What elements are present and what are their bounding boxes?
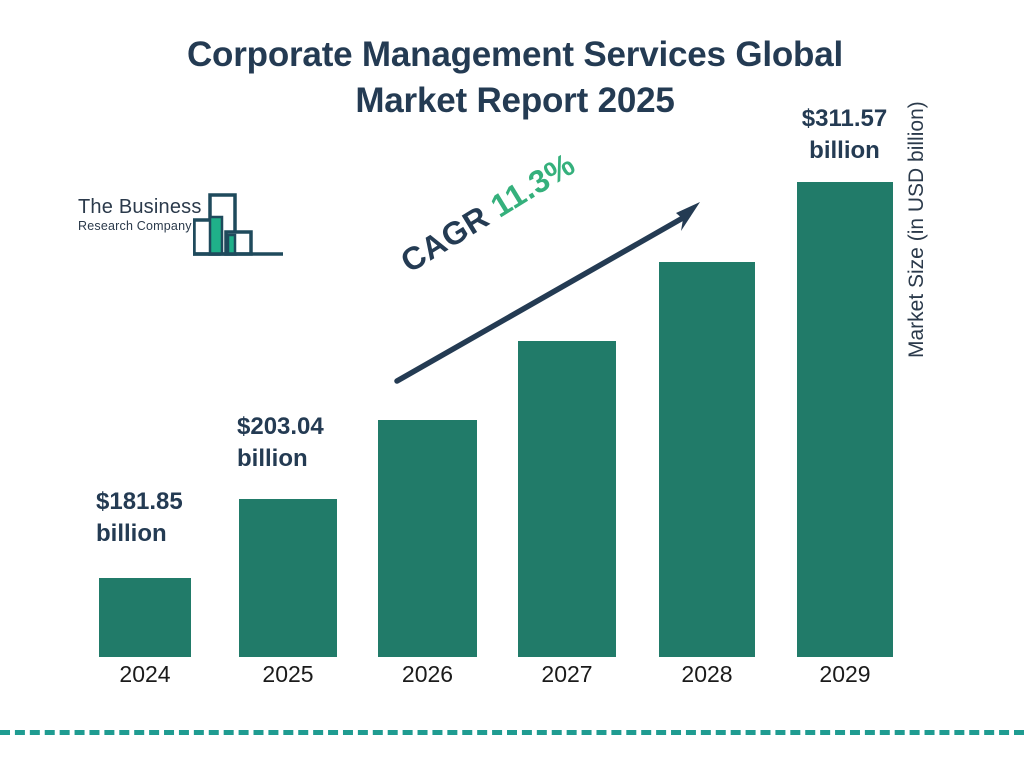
bar-2028 (659, 262, 755, 657)
x-axis-tick-2026: 2026 (378, 661, 477, 688)
bar-2029 (797, 182, 893, 657)
bar-value-label-2029: $311.57 billion (772, 103, 917, 167)
bar-2027 (518, 341, 616, 657)
x-axis-tick-2028: 2028 (659, 661, 755, 688)
bar-2024 (99, 578, 191, 657)
bar-2026 (378, 420, 477, 657)
x-axis-tick-2024: 2024 (99, 661, 191, 688)
y-axis-title: Market Size (in USD billion) (905, 18, 929, 358)
x-axis-tick-2027: 2027 (518, 661, 616, 688)
bar-value-label-2025: $203.04 billion (237, 411, 324, 475)
bar-chart: $181.85 billion2024$203.04 billion202520… (0, 0, 1024, 768)
bar-2025 (239, 499, 337, 657)
x-axis-tick-2029: 2029 (797, 661, 893, 688)
bar-value-label-2024: $181.85 billion (96, 486, 183, 550)
x-axis-tick-2025: 2025 (239, 661, 337, 688)
footer-divider (0, 730, 1024, 735)
